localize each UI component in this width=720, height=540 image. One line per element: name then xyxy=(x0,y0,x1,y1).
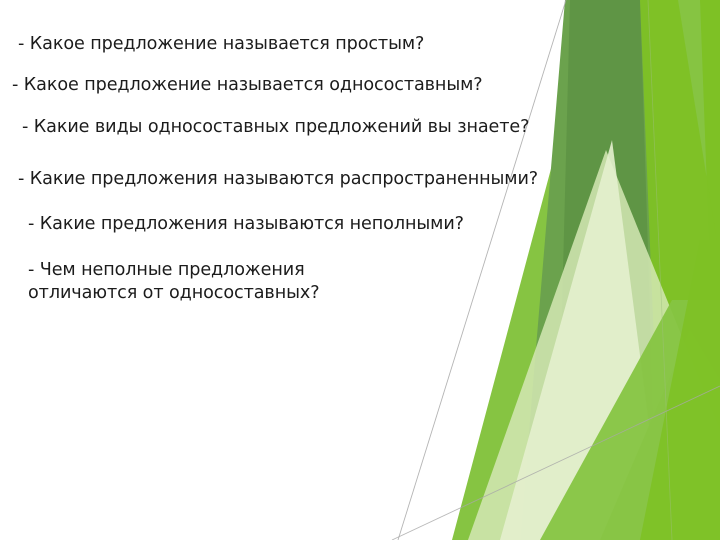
question-line-3: - Какие виды односоставных предложений в… xyxy=(22,116,529,139)
question-line-1: - Какое предложение называется простым? xyxy=(18,33,424,56)
presentation-slide: - Какое предложение называется простым? … xyxy=(0,0,720,540)
question-line-2: - Какое предложение называется однососта… xyxy=(12,74,483,97)
question-line-4: - Какие предложения называются распростр… xyxy=(18,168,538,191)
question-line-6: - Чем неполные предложения отличаются от… xyxy=(28,259,358,305)
question-line-5: - Какие предложения называются неполными… xyxy=(28,213,464,236)
slide-content-area: - Какое предложение называется простым? … xyxy=(0,0,720,540)
